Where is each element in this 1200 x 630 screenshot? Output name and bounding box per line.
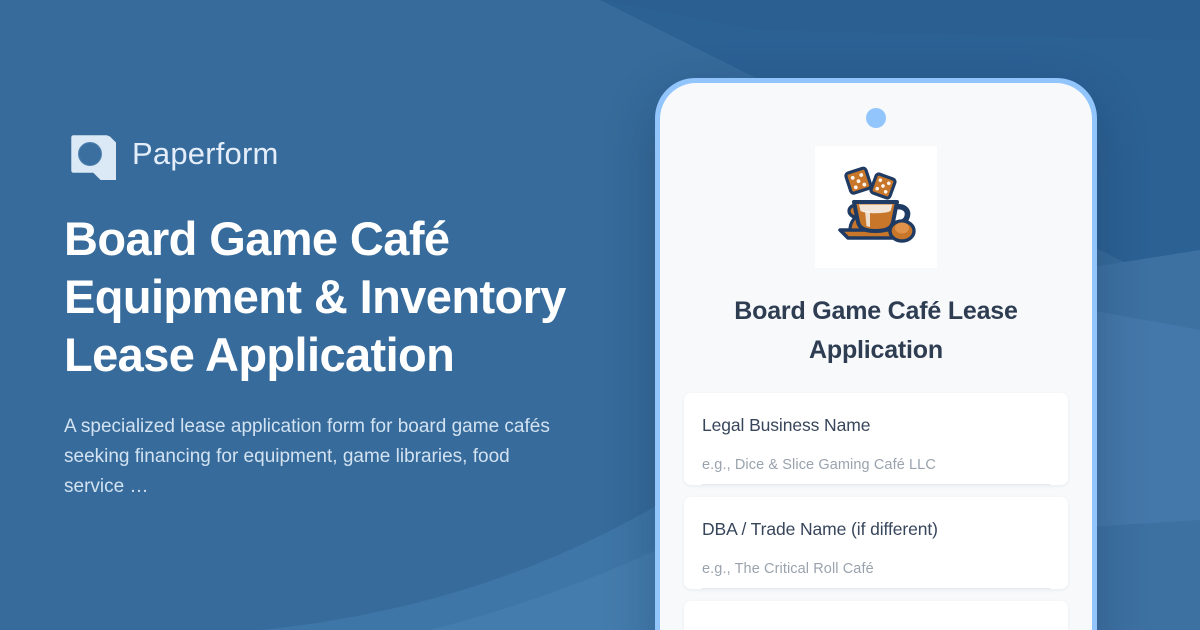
form-field-dba-trade-name[interactable]: DBA / Trade Name (if different) e.g., Th…	[684, 497, 1068, 589]
brand-logo: Paperform	[64, 128, 624, 180]
field-label: DBA / Trade Name (if different)	[702, 517, 1050, 541]
form-title: Board Game Café Lease Application	[701, 292, 1051, 370]
page-description: A specialized lease application form for…	[64, 412, 574, 502]
hero-content: Paperform Board Game Café Equipment & In…	[64, 0, 624, 630]
page-title: Board Game Café Equipment & Inventory Le…	[64, 210, 624, 384]
coffee-cup-with-dice-icon	[826, 157, 926, 257]
form-field-list: Legal Business Name e.g., Dice & Slice G…	[684, 393, 1068, 630]
phone-screen: Board Game Café Lease Application Legal …	[660, 83, 1092, 630]
brand-name: Paperform	[132, 136, 279, 172]
field-label: Legal Business Name	[702, 413, 1050, 437]
paperform-star-logo-icon	[64, 128, 116, 180]
field-input-placeholder[interactable]: e.g., Dice & Slice Gaming Café LLC	[702, 457, 1050, 485]
field-input-placeholder[interactable]: e.g., The Critical Roll Café	[702, 561, 1050, 589]
field-label	[702, 621, 1050, 630]
form-field-next-partial[interactable]	[684, 601, 1068, 630]
phone-mockup: Board Game Café Lease Application Legal …	[655, 78, 1097, 630]
form-logo	[815, 146, 937, 268]
form-field-legal-business-name[interactable]: Legal Business Name e.g., Dice & Slice G…	[684, 393, 1068, 485]
camera-dot-icon	[866, 108, 886, 128]
